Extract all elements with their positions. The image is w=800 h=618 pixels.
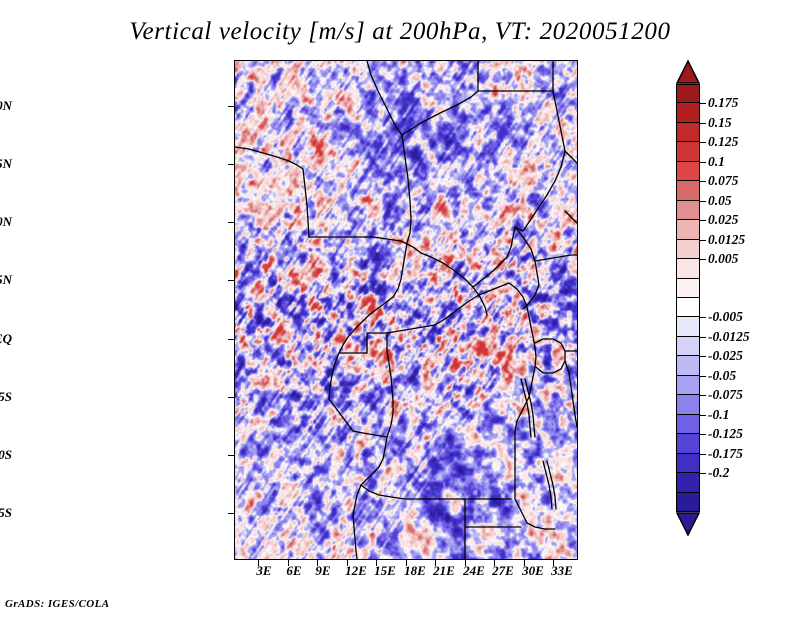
ytick-label-15n: 15N (0, 156, 12, 172)
colorbar-tick (700, 103, 706, 104)
ytick-label-20n: 20N (0, 98, 12, 114)
grads-attribution: GrADS: IGES/COLA (5, 598, 110, 610)
colorbar-label: -0.0125 (708, 329, 750, 345)
colorbar-label: -0.175 (708, 446, 743, 462)
colorbar-cell (676, 376, 700, 395)
colorbar-label: -0.005 (708, 309, 743, 325)
map-plot-area (234, 60, 578, 560)
colorbar-label: 0.005 (708, 251, 738, 267)
colorbar-cell (676, 259, 700, 278)
ytick-mark (228, 222, 234, 223)
country-borders-overlay (235, 61, 577, 559)
colorbar-label: 0.075 (708, 173, 738, 189)
colorbar-label: 0.15 (708, 115, 732, 131)
colorbar-label: 0.1 (708, 154, 725, 170)
colorbar-cell (676, 356, 700, 375)
colorbar-tick (700, 142, 706, 143)
ytick-mark (228, 397, 234, 398)
ytick-mark (228, 455, 234, 456)
colorbar-cell (676, 220, 700, 239)
colorbar-cell (676, 415, 700, 434)
colorbar-cell (676, 103, 700, 122)
colorbar-cell (676, 240, 700, 259)
colorbar-label: -0.2 (708, 465, 729, 481)
colorbar-label: 0.025 (708, 212, 738, 228)
colorbar-cell (676, 434, 700, 453)
colorbar-tick (700, 201, 706, 202)
colorbar-tick (700, 356, 706, 357)
colorbar: 0.1750.150.1250.10.0750.050.0250.01250.0… (672, 60, 800, 560)
colorbar-tick (700, 220, 706, 221)
colorbar-cell (676, 317, 700, 336)
colorbar-tick (700, 181, 706, 182)
colorbar-tick (700, 473, 706, 474)
colorbar-cell (676, 181, 700, 200)
colorbar-cell (676, 123, 700, 142)
ytick-mark (228, 513, 234, 514)
ytick-mark (228, 106, 234, 107)
colorbar-tick (700, 434, 706, 435)
colorbar-tick (700, 240, 706, 241)
xtick-label-30e: 30E (522, 563, 544, 579)
colorbar-cell (676, 395, 700, 414)
ytick-label-15s: 15S (0, 505, 12, 521)
ytick-mark (228, 280, 234, 281)
colorbar-label: -0.1 (708, 407, 729, 423)
ytick-label-5s: 5S (0, 389, 12, 405)
xtick-label-33e: 33E (551, 563, 573, 579)
colorbar-arrow-bottom (676, 512, 700, 536)
colorbar-arrow-top (676, 60, 700, 84)
colorbar-tick (700, 317, 706, 318)
xtick-label-21e: 21E (433, 563, 455, 579)
colorbar-tick (700, 259, 706, 260)
colorbar-cell (676, 454, 700, 473)
colorbar-tick (700, 376, 706, 377)
ytick-mark (228, 164, 234, 165)
xtick-label-6e: 6E (286, 563, 301, 579)
colorbar-tick (700, 162, 706, 163)
xtick-label-27e: 27E (492, 563, 514, 579)
xtick-label-15e: 15E (374, 563, 396, 579)
colorbar-tick (700, 454, 706, 455)
colorbar-cells (676, 84, 700, 512)
colorbar-cell (676, 84, 700, 103)
colorbar-cell (676, 337, 700, 356)
colorbar-label: -0.075 (708, 387, 743, 403)
colorbar-label: 0.175 (708, 95, 738, 111)
ytick-label-5n: 5N (0, 272, 12, 288)
colorbar-cell (676, 201, 700, 220)
xtick-label-3e: 3E (256, 563, 271, 579)
xtick-label-9e: 9E (315, 563, 330, 579)
colorbar-label: -0.125 (708, 426, 743, 442)
page-title: Vertical velocity [m/s] at 200hPa, VT: 2… (0, 18, 800, 46)
colorbar-tick (700, 395, 706, 396)
colorbar-label: -0.025 (708, 348, 743, 364)
colorbar-cell (676, 279, 700, 298)
colorbar-cell (676, 493, 700, 512)
ytick-label-10n: 10N (0, 214, 12, 230)
ytick-mark (228, 339, 234, 340)
colorbar-tick (700, 337, 706, 338)
ytick-label-10s: 10S (0, 447, 12, 463)
colorbar-cell (676, 162, 700, 181)
colorbar-label: 0.0125 (708, 232, 745, 248)
xtick-label-12e: 12E (345, 563, 367, 579)
colorbar-tick (700, 123, 706, 124)
colorbar-label: 0.125 (708, 134, 738, 150)
colorbar-cell (676, 298, 700, 317)
colorbar-cell (676, 473, 700, 492)
colorbar-tick (700, 415, 706, 416)
colorbar-cell (676, 142, 700, 161)
xtick-label-24e: 24E (463, 563, 485, 579)
xtick-label-18e: 18E (404, 563, 426, 579)
colorbar-label: -0.05 (708, 368, 736, 384)
colorbar-label: 0.05 (708, 193, 732, 209)
ytick-label-eq: EQ (0, 331, 12, 347)
